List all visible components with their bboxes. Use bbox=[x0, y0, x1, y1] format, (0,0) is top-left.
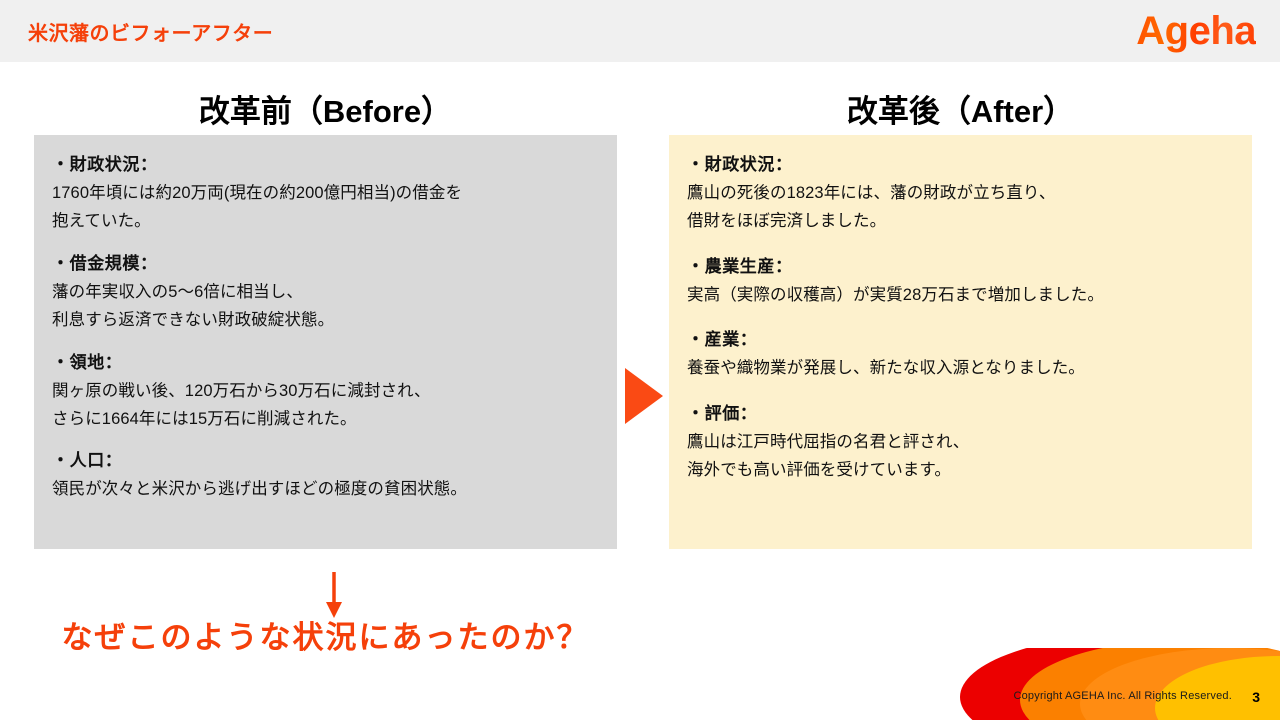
block-title: ・農業生産： bbox=[687, 253, 1234, 281]
before-block-territory: ・領地： 関ヶ原の戦い後、120万石から30万石に減封され、 さらに1664年に… bbox=[52, 349, 599, 434]
after-panel: ・財政状況： 鷹山の死後の1823年には、藩の財政が立ち直り、 借財をほぼ完済し… bbox=[669, 135, 1252, 549]
block-line: 抱えていた。 bbox=[52, 207, 599, 235]
block-line: 実高（実際の収穫高）が実質28万石まで増加しました。 bbox=[687, 281, 1234, 309]
page-number: 3 bbox=[1252, 689, 1260, 705]
block-title: ・人口： bbox=[52, 447, 599, 475]
before-column-heading: 改革前（Before） bbox=[34, 86, 617, 131]
block-title: ・産業： bbox=[687, 326, 1234, 354]
block-line: 関ヶ原の戦い後、120万石から30万石に減封され、 bbox=[52, 377, 599, 405]
conclusion-question: なぜこのような状況にあったのか？ bbox=[34, 612, 617, 657]
slide-canvas: 米沢藩のビフォーアフター Ageha 改革前（Before） ・財政状況： 17… bbox=[0, 0, 1280, 720]
after-block-evaluation: ・評価： 鷹山は江戸時代屈指の名君と評され、 海外でも高い評価を受けています。 bbox=[687, 400, 1234, 485]
after-column-heading: 改革後（After） bbox=[669, 86, 1252, 131]
page-title: 米沢藩のビフォーアフター bbox=[28, 0, 273, 62]
block-line: 鷹山は江戸時代屈指の名君と評され、 bbox=[687, 428, 1234, 456]
block-line: 海外でも高い評価を受けています。 bbox=[687, 456, 1234, 484]
block-title: ・財政状況： bbox=[52, 151, 599, 179]
ageha-logo: Ageha bbox=[1136, 0, 1256, 62]
after-block-finance: ・財政状況： 鷹山の死後の1823年には、藩の財政が立ち直り、 借財をほぼ完済し… bbox=[687, 151, 1234, 236]
block-line: 1760年頃には約20万両(現在の約200億円相当)の借金を bbox=[52, 179, 599, 207]
block-line: 借財をほぼ完済しました。 bbox=[687, 207, 1234, 235]
footer-decoration bbox=[940, 648, 1280, 720]
copyright-text: Copyright AGEHA Inc. All Rights Reserved… bbox=[1013, 690, 1232, 702]
block-line: 鷹山の死後の1823年には、藩の財政が立ち直り、 bbox=[687, 179, 1234, 207]
after-block-industry: ・産業： 養蚕や織物業が発展し、新たな収入源となりました。 bbox=[687, 326, 1234, 382]
block-line: さらに1664年には15万石に削減された。 bbox=[52, 405, 599, 433]
block-line: 養蚕や織物業が発展し、新たな収入源となりました。 bbox=[687, 354, 1234, 382]
block-line: 利息すら返済できない財政破綻状態。 bbox=[52, 306, 599, 334]
block-line: 領民が次々と米沢から逃げ出すほどの極度の貧困状態。 bbox=[52, 475, 599, 503]
block-title: ・評価： bbox=[687, 400, 1234, 428]
before-block-finance: ・財政状況： 1760年頃には約20万両(現在の約200億円相当)の借金を 抱え… bbox=[52, 151, 599, 236]
block-line: 藩の年実収入の5〜6倍に相当し、 bbox=[52, 278, 599, 306]
before-block-debt-scale: ・借金規模： 藩の年実収入の5〜6倍に相当し、 利息すら返済できない財政破綻状態… bbox=[52, 250, 599, 335]
before-panel: ・財政状況： 1760年頃には約20万両(現在の約200億円相当)の借金を 抱え… bbox=[34, 135, 617, 549]
block-title: ・借金規模： bbox=[52, 250, 599, 278]
after-block-agriculture: ・農業生産： 実高（実際の収穫高）が実質28万石まで増加しました。 bbox=[687, 253, 1234, 309]
block-title: ・領地： bbox=[52, 349, 599, 377]
before-block-population: ・人口： 領民が次々と米沢から逃げ出すほどの極度の貧困状態。 bbox=[52, 447, 599, 503]
right-arrow-icon bbox=[625, 368, 663, 424]
block-title: ・財政状況： bbox=[687, 151, 1234, 179]
